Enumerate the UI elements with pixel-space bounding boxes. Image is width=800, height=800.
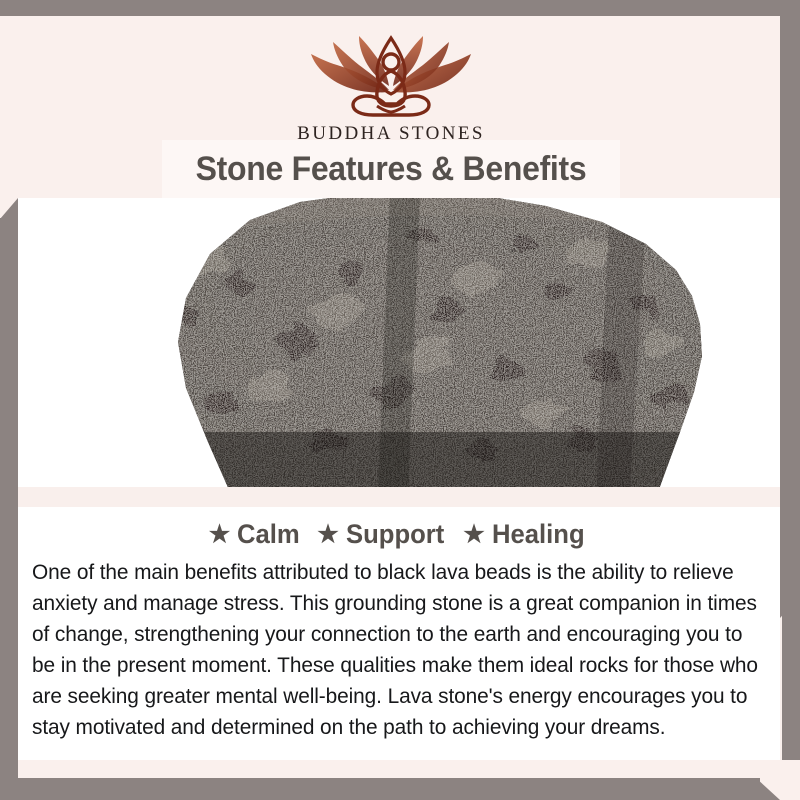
frame-top-bar (0, 0, 800, 16)
page-title: Stone Features & Benefits (176, 140, 607, 198)
section-divider (18, 487, 780, 507)
frame-left-bar (0, 218, 18, 800)
rock-image (90, 198, 780, 487)
benefits-row: ★ Calm ★ Support ★ Healing (18, 519, 780, 550)
benefit-label: Support (346, 519, 444, 550)
benefit-item-support: ★ Support (317, 519, 449, 550)
frame-bottom-bar (0, 778, 760, 800)
header-area: BUDDHA STONES (0, 16, 782, 140)
benefit-label: Calm (237, 519, 300, 550)
title-band: Stone Features & Benefits (162, 140, 620, 198)
star-icon: ★ (317, 523, 339, 547)
benefit-item-healing: ★ Healing (463, 519, 589, 550)
lotus-meditation-figure-icon (303, 34, 479, 120)
description-panel: ★ Calm ★ Support ★ Healing One of the ma… (18, 507, 780, 760)
star-icon: ★ (463, 523, 485, 547)
description-text: One of the main benefits attributed to b… (32, 557, 769, 743)
star-icon: ★ (209, 523, 231, 547)
benefit-label: Healing (492, 519, 585, 550)
lava-rock-photo: Lava Rock (18, 198, 780, 487)
infographic-card: BUDDHA STONES Stone Features & Benefits (0, 0, 800, 800)
frame-right-bevel (780, 596, 800, 618)
frame-right-bar (780, 0, 800, 600)
benefit-item-calm: ★ Calm (209, 519, 304, 550)
frame-left-bevel (0, 198, 18, 219)
frame-bottom-bevel (756, 778, 780, 800)
brand-logo: BUDDHA STONES (0, 34, 782, 145)
